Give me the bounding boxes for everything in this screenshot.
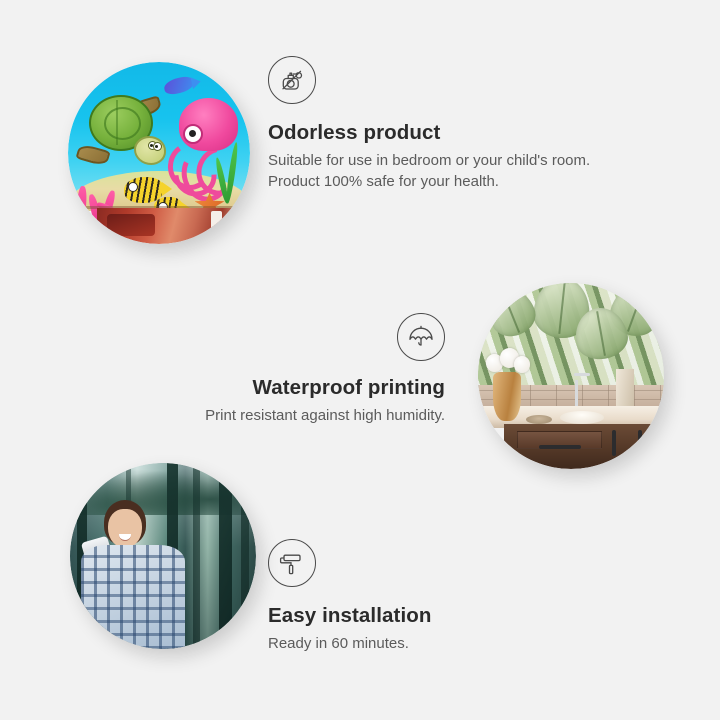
feature-description: Print resistant against high humidity. <box>130 405 445 426</box>
feature-description: Suitable for use in bedroom or your chil… <box>268 150 598 193</box>
tree-trunk <box>241 463 248 649</box>
feature-title: Easy installation <box>268 603 588 629</box>
leaf-icon <box>482 283 542 343</box>
feature-title: Odorless product <box>268 120 598 146</box>
tree-trunk <box>219 463 232 649</box>
photo-ocean-mural <box>68 62 250 244</box>
photo-woman-forest-wallpaper <box>70 463 256 649</box>
leaf-vein <box>627 287 645 332</box>
cabinet-handle-icon <box>612 430 616 457</box>
paint-roller-icon <box>268 539 316 587</box>
rose <box>514 356 530 373</box>
woman-figure <box>81 500 185 649</box>
no-odor-perfume-bottle-icon <box>268 56 316 104</box>
sea-turtle-icon <box>79 95 163 168</box>
octopus-eye <box>183 124 203 144</box>
octopus-head <box>179 98 238 151</box>
leaf-vein <box>596 312 606 356</box>
photo-ocean-mural-inner <box>68 62 250 244</box>
woman-face <box>108 509 141 548</box>
leaf-vein <box>558 283 566 335</box>
feature-installation: Easy installation Ready in 60 minutes. <box>268 539 588 654</box>
ocean-room-photo-strip <box>97 208 250 244</box>
turtle-head <box>134 136 166 165</box>
tree-trunk <box>193 463 200 649</box>
feature-waterproof: Waterproof printing Print resistant agai… <box>130 313 445 426</box>
woman-plaid-shirt <box>81 545 185 649</box>
cabinet-handle-icon <box>638 430 642 457</box>
photo-forest-inner <box>70 463 256 649</box>
turtle-eye <box>153 142 162 151</box>
feature-page: Odorless product Suitable for use in bed… <box>0 0 720 720</box>
bathroom-vanity-cabinet <box>504 424 664 469</box>
umbrella-icon <box>397 313 445 361</box>
leaf-vein <box>503 292 521 332</box>
photo-bathroom-leaf-wallpaper <box>478 283 664 469</box>
feature-title: Waterproof printing <box>130 375 445 401</box>
photo-bathroom-inner <box>478 283 664 469</box>
feature-odorless: Odorless product Suitable for use in bed… <box>268 56 598 192</box>
drawer-handle-icon <box>539 445 581 449</box>
feature-description: Ready in 60 minutes. <box>268 633 588 654</box>
gold-vase-icon <box>493 372 521 420</box>
